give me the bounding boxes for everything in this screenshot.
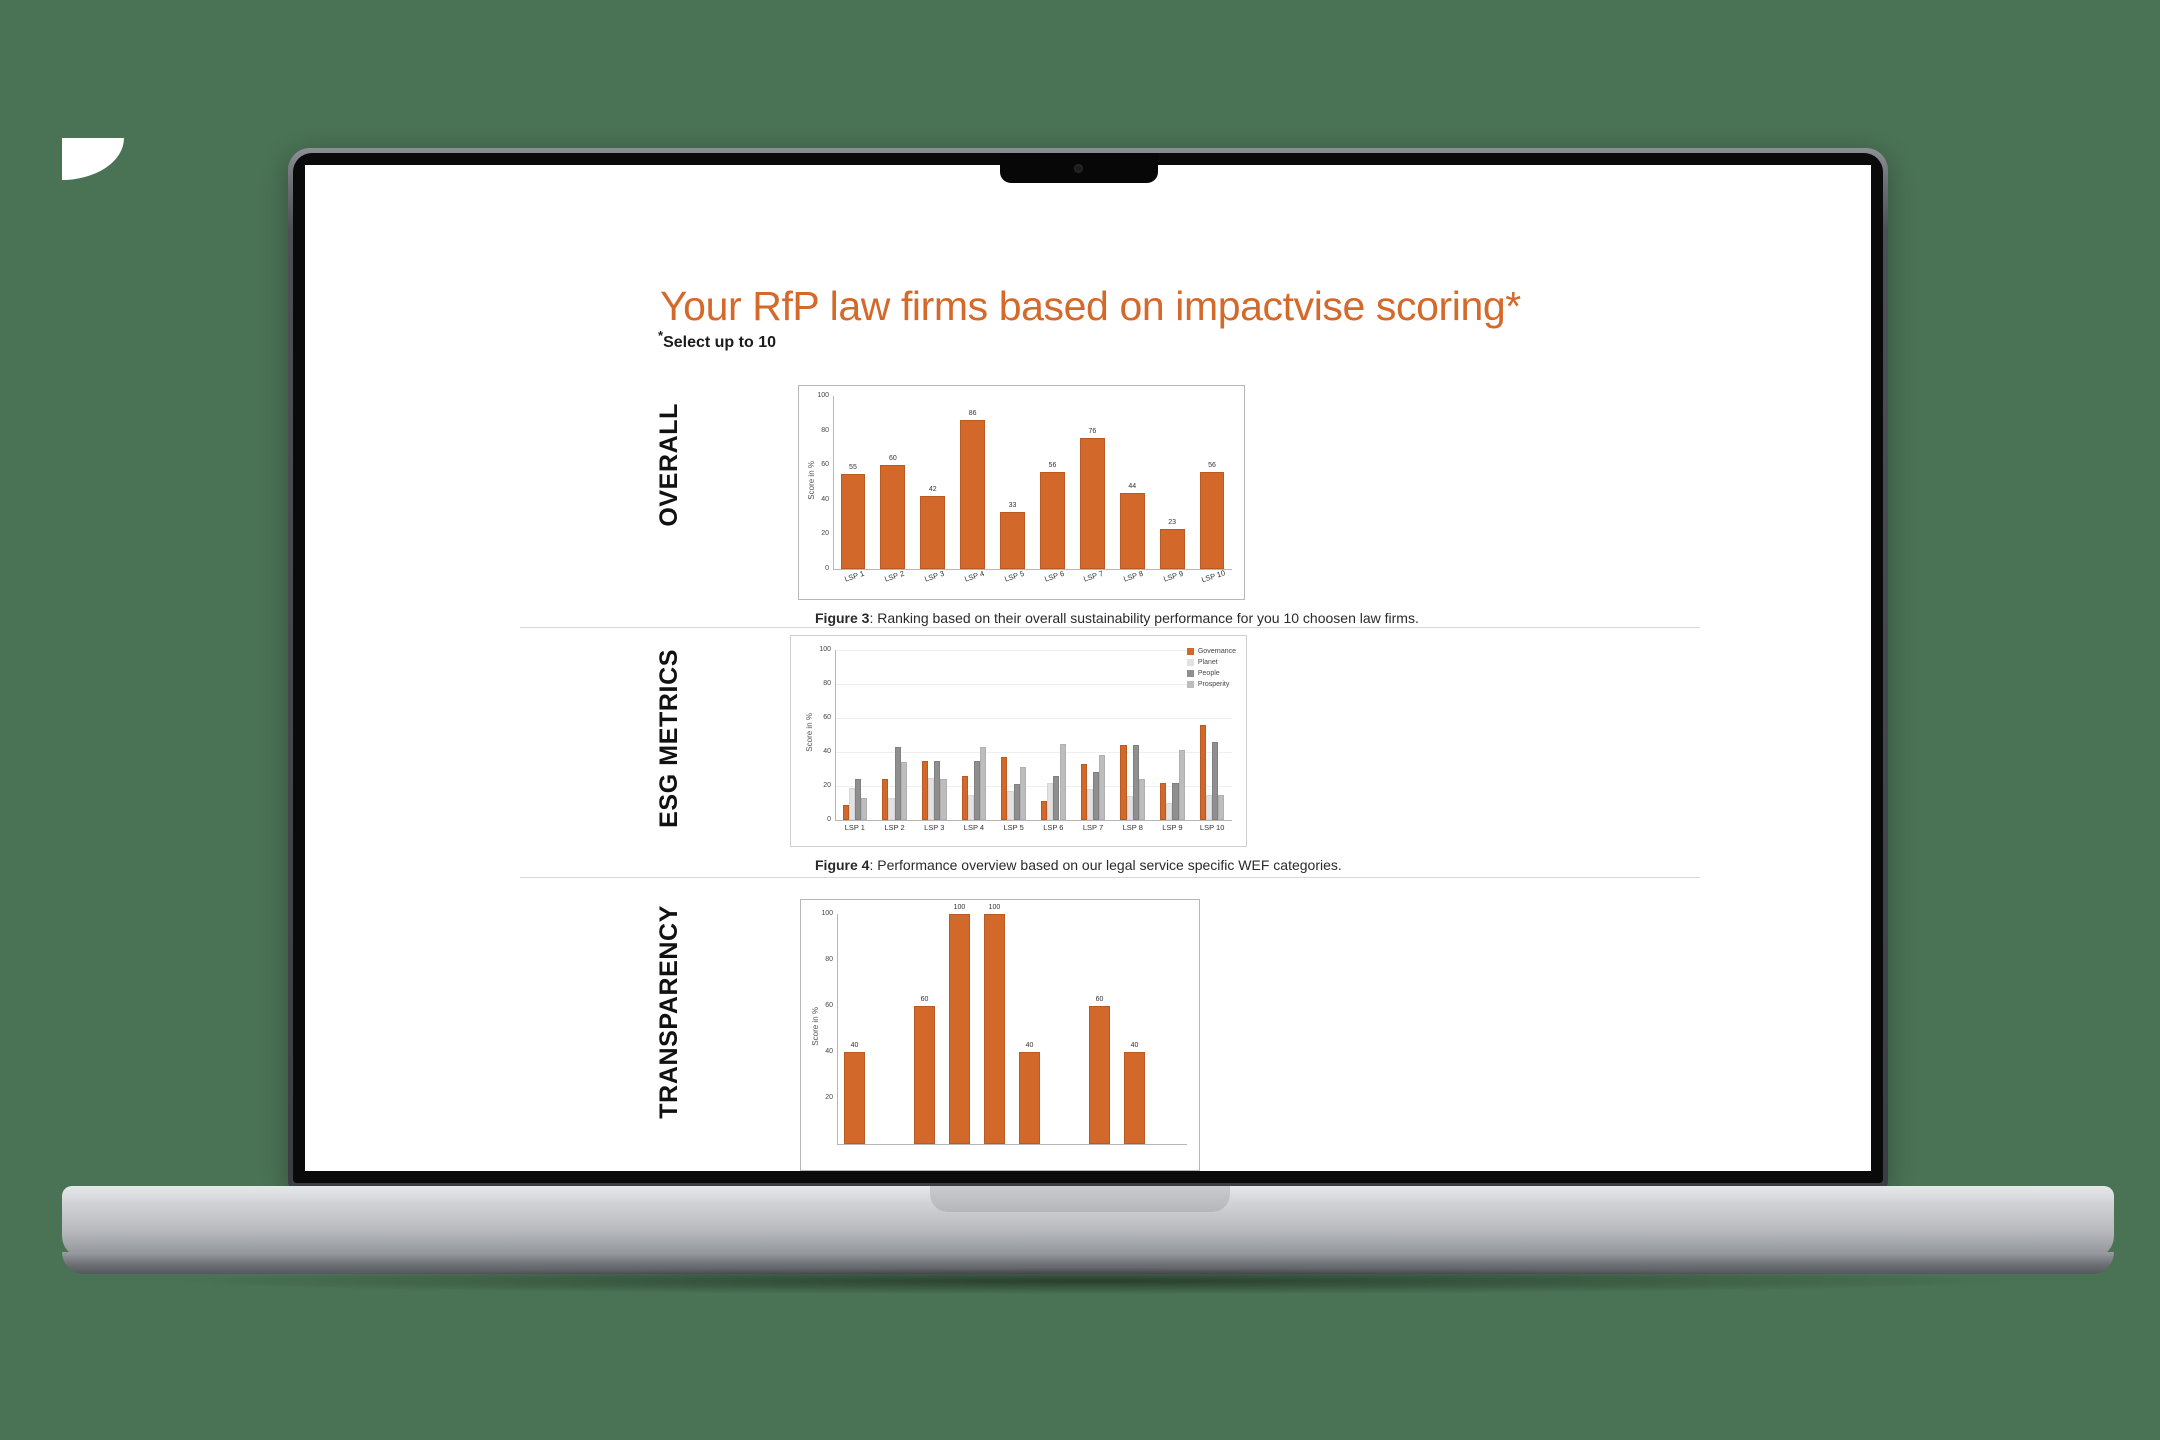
y-axis-tick: 20 bbox=[809, 782, 831, 789]
bar-value-label: 23 bbox=[1154, 519, 1191, 526]
legend-swatch-prosperity bbox=[1187, 681, 1194, 688]
bar-value-label: 100 bbox=[943, 904, 977, 911]
y-axis-tick: 0 bbox=[807, 565, 829, 572]
y-axis-tick: 100 bbox=[807, 392, 829, 399]
chart-overall: Score in %02040608010055LSP 160LSP 242LS… bbox=[798, 385, 1245, 600]
legend-item: Planet bbox=[1187, 657, 1236, 668]
bar-lsp-2[interactable] bbox=[880, 465, 905, 569]
bar-value-label: 86 bbox=[954, 410, 991, 417]
bar-value-label: 56 bbox=[1034, 462, 1071, 469]
subnote-text: Select up to 10 bbox=[663, 334, 776, 351]
bar-prosperity[interactable] bbox=[1020, 767, 1026, 820]
bar-lsp-1[interactable] bbox=[841, 474, 866, 569]
bar-prosperity[interactable] bbox=[1139, 779, 1145, 820]
y-axis-tick: 60 bbox=[807, 461, 829, 468]
x-axis-tick: LSP 3 bbox=[914, 823, 954, 832]
laptop-mockup: Your RfP law firms based on impactvise s… bbox=[0, 0, 2160, 1440]
x-axis-tick: LSP 1 bbox=[835, 823, 875, 832]
x-axis-line bbox=[835, 820, 1232, 821]
webcam-icon bbox=[1074, 164, 1083, 173]
section-overall: OVERALL Score in %02040608010055LSP 160L… bbox=[515, 365, 1755, 627]
page-subnote: *Select up to 10 bbox=[658, 328, 776, 352]
figure-3-label: Figure 3 bbox=[815, 610, 869, 626]
bar-prosperity[interactable] bbox=[1060, 744, 1066, 821]
bar-value-label: 40 bbox=[1118, 1042, 1152, 1049]
chart-transparency: Score in %204060801004060100100406040 bbox=[800, 899, 1200, 1171]
figure-4-caption: Figure 4: Performance overview based on … bbox=[815, 857, 1342, 873]
legend-item: People bbox=[1187, 668, 1236, 679]
grid-line bbox=[835, 684, 1232, 685]
legend-swatch-planet bbox=[1187, 659, 1194, 666]
bar-lsp-8[interactable] bbox=[1120, 493, 1145, 569]
figure-3-text: : Ranking based on their overall sustain… bbox=[869, 610, 1418, 626]
bar-value-label: 40 bbox=[838, 1042, 872, 1049]
bar-lsp-4[interactable] bbox=[960, 420, 985, 569]
grid-line bbox=[835, 718, 1232, 719]
x-axis-tick: LSP 10 bbox=[1192, 823, 1232, 832]
bar-lsp-3[interactable] bbox=[914, 1006, 936, 1144]
bar-prosperity[interactable] bbox=[901, 762, 907, 820]
bar-value-label: 55 bbox=[835, 464, 872, 471]
bar-value-label: 40 bbox=[1013, 1042, 1047, 1049]
legend-label: Governance bbox=[1198, 646, 1236, 657]
legend-label: Planet bbox=[1198, 657, 1218, 668]
laptop-screen: Your RfP law firms based on impactvise s… bbox=[305, 165, 1871, 1171]
y-axis-tick: 100 bbox=[811, 910, 833, 917]
y-axis-label: Score in % bbox=[811, 1007, 820, 1046]
figure-3-caption: Figure 3: Ranking based on their overall… bbox=[815, 610, 1419, 626]
bar-lsp-7[interactable] bbox=[1080, 438, 1105, 569]
section-esg-metrics: ESG METRICS Score in %020406080100LSP 1L… bbox=[515, 635, 1755, 879]
y-axis-tick: 80 bbox=[811, 956, 833, 963]
section-label-esg-metrics: ESG METRICS bbox=[655, 649, 684, 828]
y-axis-tick: 20 bbox=[811, 1094, 833, 1101]
bar-value-label: 33 bbox=[994, 502, 1031, 509]
legend-label: People bbox=[1198, 668, 1220, 679]
x-axis-line bbox=[837, 1144, 1187, 1145]
y-axis-tick: 40 bbox=[811, 1048, 833, 1055]
bar-value-label: 60 bbox=[874, 455, 911, 462]
legend-label: Prosperity bbox=[1198, 679, 1230, 690]
bar-lsp-4[interactable] bbox=[949, 914, 971, 1144]
x-axis-tick: LSP 4 bbox=[954, 823, 994, 832]
legend-swatch-governance bbox=[1187, 648, 1194, 655]
bar-value-label: 60 bbox=[1083, 996, 1117, 1003]
bar-prosperity[interactable] bbox=[1218, 795, 1224, 821]
section-label-overall: OVERALL bbox=[655, 403, 684, 527]
bar-prosperity[interactable] bbox=[940, 779, 946, 820]
bar-lsp-3[interactable] bbox=[920, 496, 945, 569]
bar-value-label: 42 bbox=[914, 486, 951, 493]
y-axis-line bbox=[835, 650, 836, 820]
x-axis-tick: LSP 6 bbox=[1034, 823, 1074, 832]
bar-lsp-9[interactable] bbox=[1124, 1052, 1146, 1144]
legend-item: Governance bbox=[1187, 646, 1236, 657]
laptop-shadow bbox=[180, 1268, 2000, 1294]
bar-prosperity[interactable] bbox=[861, 798, 867, 820]
bar-prosperity[interactable] bbox=[1179, 750, 1185, 820]
y-axis-tick: 60 bbox=[811, 1002, 833, 1009]
legend-swatch-people bbox=[1187, 670, 1194, 677]
section-transparency: TRANSPARENCY Score in %20406080100406010… bbox=[515, 887, 1755, 1171]
x-axis-tick: LSP 5 bbox=[994, 823, 1034, 832]
bar-lsp-8[interactable] bbox=[1089, 1006, 1111, 1144]
legend-item: Prosperity bbox=[1187, 679, 1236, 690]
y-axis-tick: 60 bbox=[809, 714, 831, 721]
laptop-base-notch bbox=[930, 1186, 1230, 1212]
y-axis-tick: 40 bbox=[809, 748, 831, 755]
section-label-transparency: TRANSPARENCY bbox=[655, 905, 684, 1119]
bar-value-label: 44 bbox=[1114, 483, 1151, 490]
bar-value-label: 76 bbox=[1074, 428, 1111, 435]
bar-prosperity[interactable] bbox=[980, 747, 986, 820]
bar-lsp-10[interactable] bbox=[1200, 472, 1225, 569]
bar-lsp-5[interactable] bbox=[984, 914, 1006, 1144]
figure-4-label: Figure 4 bbox=[815, 857, 869, 873]
bar-value-label: 56 bbox=[1194, 462, 1231, 469]
chart-legend: GovernancePlanetPeopleProsperity bbox=[1187, 646, 1236, 690]
chart-esg-metrics: Score in %020406080100LSP 1LSP 2LSP 3LSP… bbox=[790, 635, 1247, 847]
page-title: Your RfP law firms based on impactvise s… bbox=[660, 283, 1521, 330]
x-axis-tick: LSP 8 bbox=[1113, 823, 1153, 832]
report-page: Your RfP law firms based on impactvise s… bbox=[305, 165, 1871, 1171]
bar-lsp-5[interactable] bbox=[1000, 512, 1025, 569]
y-axis-tick: 80 bbox=[809, 680, 831, 687]
section-divider-1 bbox=[520, 627, 1700, 628]
y-axis-tick: 20 bbox=[807, 530, 829, 537]
bar-lsp-6[interactable] bbox=[1019, 1052, 1041, 1144]
grid-line bbox=[835, 650, 1232, 651]
y-axis-line bbox=[833, 396, 834, 569]
bar-value-label: 100 bbox=[978, 904, 1012, 911]
y-axis-tick: 80 bbox=[807, 427, 829, 434]
bar-value-label: 60 bbox=[908, 996, 942, 1003]
y-axis-tick: 100 bbox=[809, 646, 831, 653]
y-axis-tick: 40 bbox=[807, 496, 829, 503]
y-axis-line bbox=[837, 914, 838, 1144]
bar-lsp-9[interactable] bbox=[1160, 529, 1185, 569]
x-axis-tick: LSP 7 bbox=[1073, 823, 1113, 832]
bar-lsp-6[interactable] bbox=[1040, 472, 1065, 569]
x-axis-tick: LSP 9 bbox=[1153, 823, 1193, 832]
x-axis-tick: LSP 2 bbox=[875, 823, 915, 832]
y-axis-tick: 0 bbox=[809, 816, 831, 823]
bar-prosperity[interactable] bbox=[1099, 755, 1105, 820]
bar-lsp-1[interactable] bbox=[844, 1052, 866, 1144]
figure-4-text: : Performance overview based on our lega… bbox=[869, 857, 1341, 873]
